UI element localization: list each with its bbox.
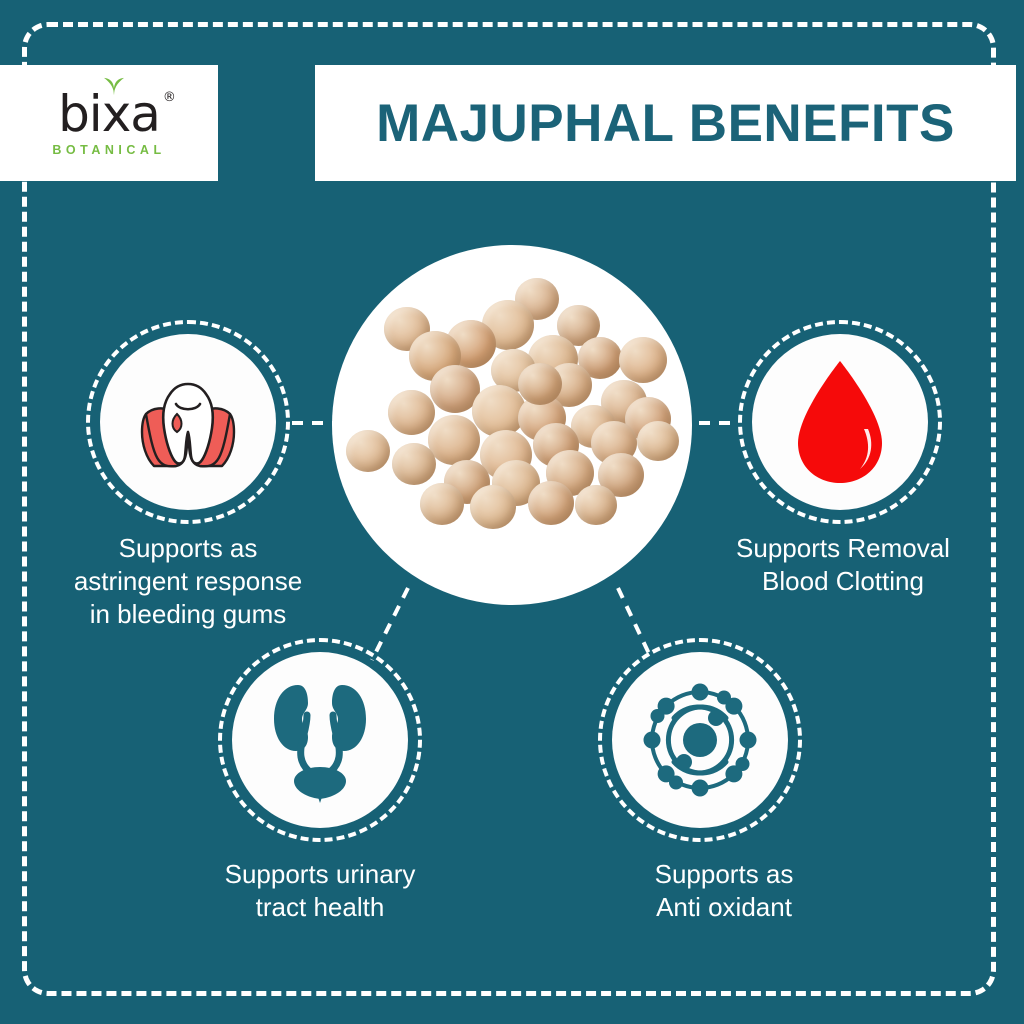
gall-nut <box>518 363 562 405</box>
caption-line: Anti oxidant <box>556 891 892 924</box>
icon-disc <box>232 652 408 828</box>
title-banner: MAJUPHAL BENEFITS <box>315 65 1016 181</box>
benefit-icon-urinary-tract[interactable] <box>218 638 422 842</box>
gall-nut <box>428 415 480 465</box>
kidneys-icon <box>258 677 382 803</box>
caption-line: in bleeding gums <box>8 598 368 631</box>
blood-drop-icon <box>784 357 896 487</box>
gall-nut <box>388 390 435 435</box>
benefit-icon-blood-clotting[interactable] <box>738 320 942 524</box>
caption-line: astringent response <box>8 565 368 598</box>
caption-line: Supports urinary <box>150 858 490 891</box>
caption-line: tract health <box>150 891 490 924</box>
product-image-circle <box>332 245 692 605</box>
caption-blood-clotting: Supports Removal Blood Clotting <box>670 532 1016 598</box>
page-title: MAJUPHAL BENEFITS <box>376 93 955 154</box>
caption-line: Supports as <box>8 532 368 565</box>
brand-logo: bixa ® BOTANICAL <box>0 65 218 181</box>
benefit-icon-bleeding-gums[interactable] <box>86 320 290 524</box>
gall-nut <box>346 430 390 472</box>
caption-anti-oxidant: Supports as Anti oxidant <box>556 858 892 924</box>
icon-disc <box>612 652 788 828</box>
caption-line: Supports Removal <box>670 532 1016 565</box>
benefit-icon-anti-oxidant[interactable] <box>598 638 802 842</box>
registered-mark: ® <box>163 91 175 104</box>
gall-nut <box>420 483 464 525</box>
gall-nut <box>528 481 574 525</box>
gall-nut <box>619 337 667 383</box>
gall-nut <box>575 485 617 525</box>
gall-nut <box>470 485 516 529</box>
antioxidant-atom-icon <box>638 678 762 802</box>
infographic-canvas: bixa ® BOTANICAL MAJUPHAL BENEFITS <box>0 0 1024 1024</box>
logo-subtitle: BOTANICAL <box>52 143 165 157</box>
caption-bleeding-gums: Supports as astringent response in bleed… <box>8 532 368 630</box>
gall-nut <box>637 421 679 461</box>
caption-urinary-tract: Supports urinary tract health <box>150 858 490 924</box>
leaf-icon <box>103 76 125 96</box>
icon-disc <box>752 334 928 510</box>
gall-nut <box>392 443 436 485</box>
caption-line: Supports as <box>556 858 892 891</box>
tooth-gums-icon <box>128 362 248 482</box>
icon-disc <box>100 334 276 510</box>
logo-wordmark: bixa ® <box>58 89 160 139</box>
caption-line: Blood Clotting <box>670 565 1016 598</box>
